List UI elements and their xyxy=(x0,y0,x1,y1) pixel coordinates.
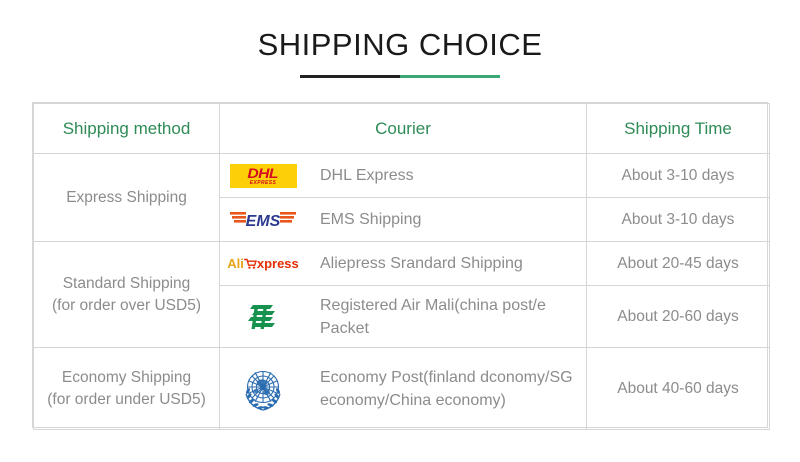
shipping-table-container: Shipping method Courier Shipping Time Ex… xyxy=(32,102,768,428)
aliexpress-logo-ali: Ali xyxy=(227,257,244,270)
dhl-logo-text: DHL xyxy=(248,166,279,180)
courier-name: Registered Air Mali(china post/e Packet xyxy=(320,294,586,340)
method-cell-standard: Standard Shipping (for order over USD5) xyxy=(34,242,220,348)
table-header-row: Shipping method Courier Shipping Time xyxy=(34,104,770,154)
courier-name: Economy Post(finland dconomy/SG economy/… xyxy=(320,366,586,412)
shipping-table: Shipping method Courier Shipping Time Ex… xyxy=(33,103,770,430)
title-underline-right xyxy=(400,75,500,78)
svg-text:EMS: EMS xyxy=(246,213,281,230)
method-name: Express Shipping xyxy=(66,189,187,206)
shopping-cart-icon xyxy=(244,258,257,270)
title-underline xyxy=(300,75,500,78)
table-row: Standard Shipping (for order over USD5) … xyxy=(34,242,770,286)
aliexpress-logo: Ali xpress xyxy=(220,257,306,270)
column-header-courier: Courier xyxy=(220,104,587,154)
ems-logo: EMS xyxy=(220,207,306,233)
method-note: (for order over USD5) xyxy=(34,295,219,317)
time-cell: About 20-60 days xyxy=(587,286,770,348)
courier-cell-aliexpress: Ali xpress xyxy=(220,242,587,286)
table-row: Economy Shipping (for order under USD5) xyxy=(34,348,770,430)
time-cell: About 3-10 days xyxy=(587,198,770,242)
courier-cell-united-nations: Economy Post(finland dconomy/SG economy/… xyxy=(220,348,587,430)
courier-cell-dhl: DHL EXPRESS DHL Express xyxy=(220,154,587,198)
page-title-block: SHIPPING CHOICE xyxy=(0,26,800,78)
method-name: Standard Shipping xyxy=(63,275,191,292)
method-cell-express: Express Shipping xyxy=(34,154,220,242)
aliexpress-logo-xpress: xpress xyxy=(257,257,299,270)
dhl-logo: DHL EXPRESS xyxy=(220,164,306,188)
column-header-shipping-method: Shipping method xyxy=(34,104,220,154)
method-note: (for order under USD5) xyxy=(34,389,219,411)
title-underline-left xyxy=(300,75,400,78)
time-cell: About 3-10 days xyxy=(587,154,770,198)
courier-cell-ems: EMS EMS Shipping xyxy=(220,198,587,242)
courier-cell-china-post: Registered Air Mali(china post/e Packet xyxy=(220,286,587,348)
china-post-logo xyxy=(220,297,306,337)
united-nations-logo xyxy=(220,362,306,416)
courier-name: EMS Shipping xyxy=(320,208,421,231)
time-cell: About 20-45 days xyxy=(587,242,770,286)
time-cell: About 40-60 days xyxy=(587,348,770,430)
table-row: Express Shipping DHL EXPRESS DHL Express… xyxy=(34,154,770,198)
courier-name: DHL Express xyxy=(320,164,414,187)
column-header-shipping-time: Shipping Time xyxy=(587,104,770,154)
courier-name: Aliepress Srandard Shipping xyxy=(320,252,523,275)
method-name: Economy Shipping xyxy=(62,369,191,386)
page-title: SHIPPING CHOICE xyxy=(0,26,800,64)
method-cell-economy: Economy Shipping (for order under USD5) xyxy=(34,348,220,430)
dhl-logo-subtext: EXPRESS xyxy=(250,181,276,186)
